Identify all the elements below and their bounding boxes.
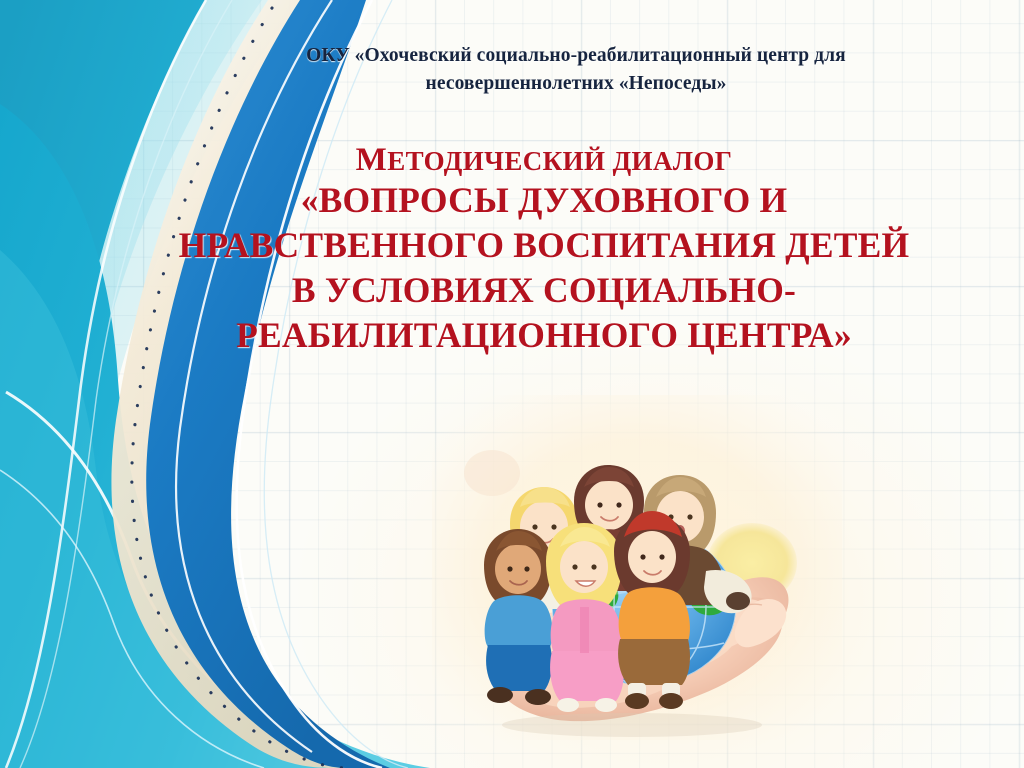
children-on-globe-in-hands-illustration [432,395,842,740]
child-red-cap-girl-front-right [614,511,690,709]
organization-name-line1: ОКУ «Охочевский социально-реабилитационн… [196,42,956,70]
title-line-1: «ВОПРОСЫ ДУХОВНОГО И [118,178,970,223]
organization-name-line2: несовершеннолетних «Непоседы» [196,70,956,98]
illustration-shadow [502,713,762,737]
child-brown-hair-boy-front-left [484,529,552,691]
child-blond-girl-front-center [546,523,624,701]
title-subtitle-leading-cap: М [356,142,388,178]
title-line-2: НРАВСТВЕННОГО ВОСПИТАНИЯ ДЕТЕЙ [118,223,970,268]
presentation-slide: ОКУ «Охочевский социально-реабилитационн… [0,0,1024,768]
title-line-4: РЕАБИЛИТАЦИОННОГО ЦЕНТРА» [118,313,970,358]
title-subtitle-line: МЕТОДИЧЕСКИЙ ДИАЛОГ [118,143,970,178]
pale-blob-left [464,450,520,496]
slide-title: МЕТОДИЧЕСКИЙ ДИАЛОГ «ВОПРОСЫ ДУХОВНОГО И… [118,143,970,358]
title-subtitle-rest: ЕТОДИЧЕСКИЙ ДИАЛОГ [387,146,732,176]
organization-name: ОКУ «Охочевский социально-реабилитационн… [196,42,956,98]
title-line-3: В УСЛОВИЯХ СОЦИАЛЬНО- [118,268,970,313]
